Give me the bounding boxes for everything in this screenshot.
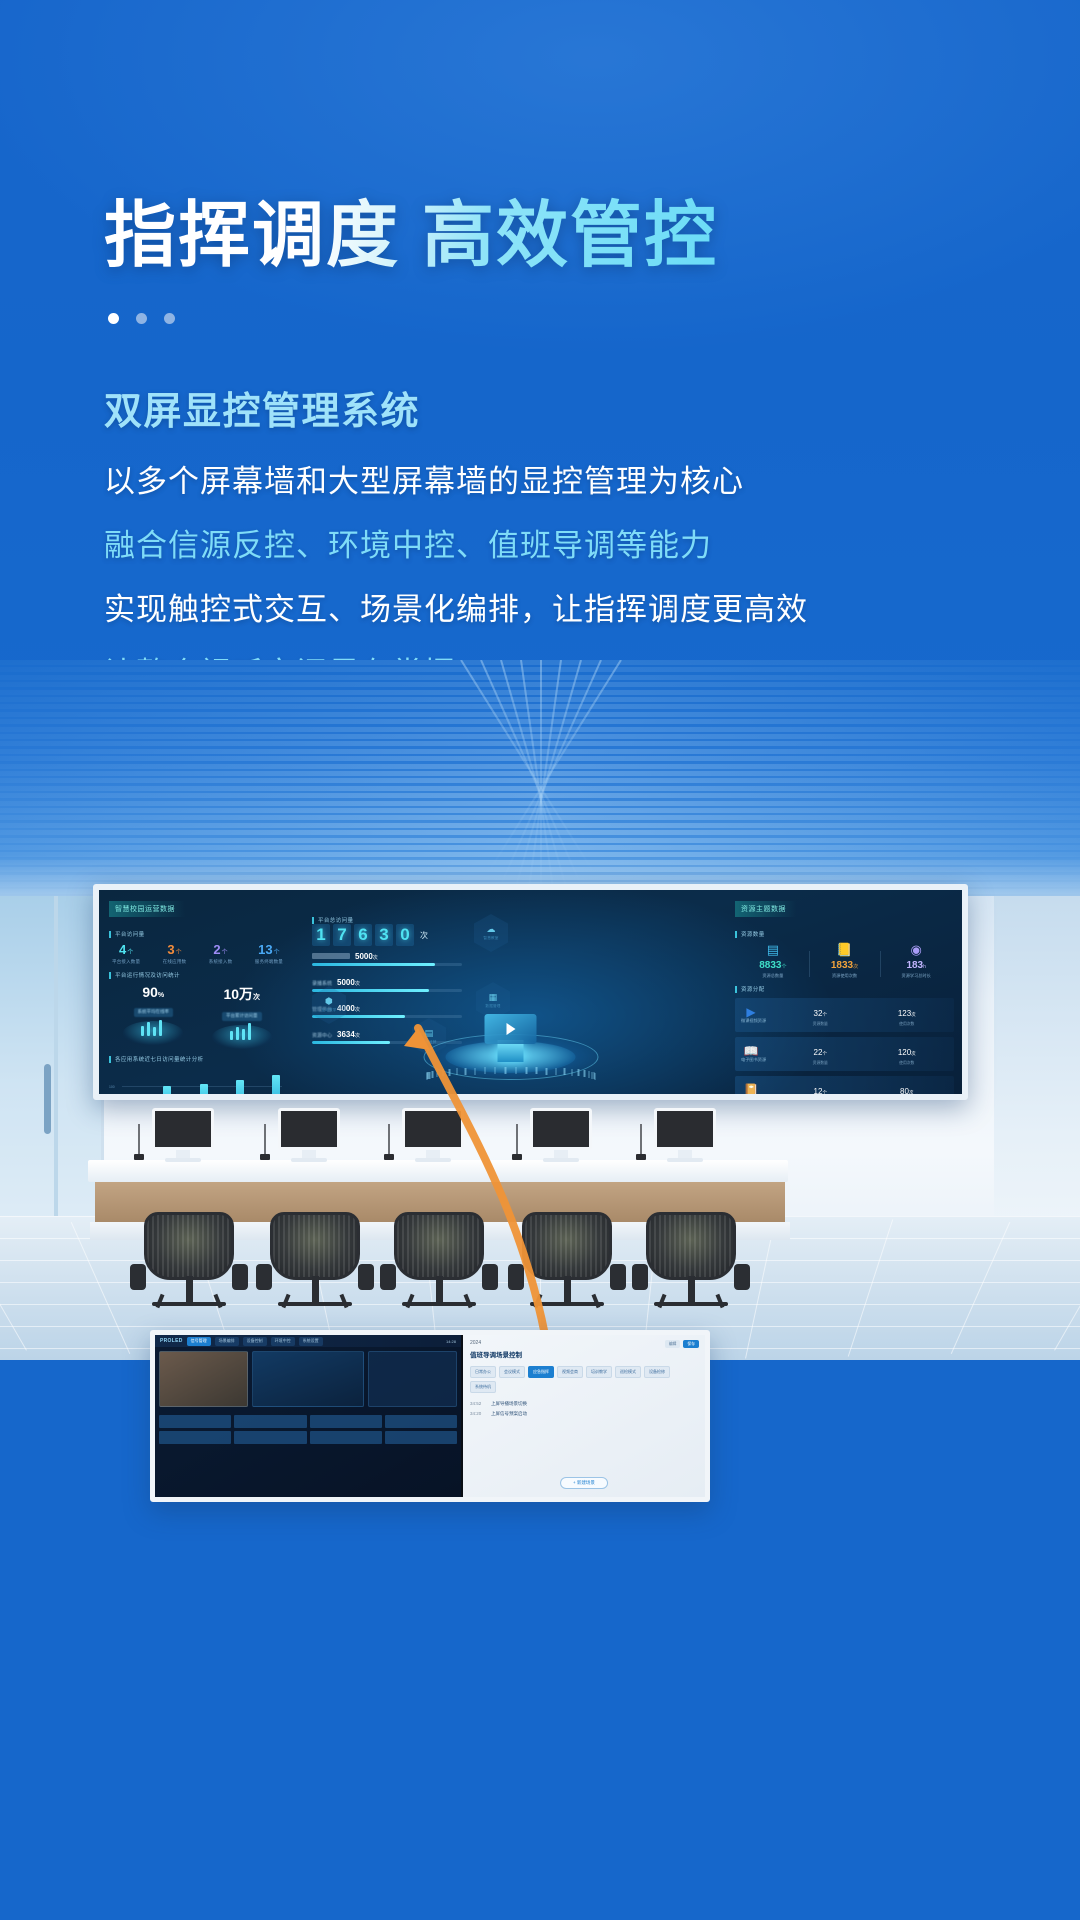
chair-base [152, 1302, 226, 1306]
monitor-foot [291, 1158, 327, 1162]
chair-base [402, 1302, 476, 1306]
center-3d-podium [423, 1026, 598, 1090]
right-screen-actions[interactable]: 编辑 保存 [665, 1340, 699, 1348]
schedule-time: 34:20 [470, 1411, 486, 1416]
schedule-list: 34:52 上屏导播场景切换 34:20 上屏信号预案启动 [463, 1397, 705, 1425]
gauge-value: 90% [114, 984, 192, 1000]
chair-base [530, 1302, 604, 1306]
summary-cell: ▤ 8833个 资源总数量 [737, 943, 809, 979]
office-chair [508, 1212, 626, 1324]
office-chair [130, 1212, 248, 1324]
chart-bar [272, 1075, 280, 1100]
mini-tile[interactable] [310, 1415, 382, 1428]
tab-environment[interactable]: 环境中控 [271, 1337, 295, 1346]
monitor-foot [415, 1158, 451, 1162]
body-line-3: 实现触控式交互、场景化编排，让指挥调度更高效 [104, 578, 1004, 642]
left-screen-cards [155, 1347, 461, 1411]
left-screen-mini-tiles[interactable] [155, 1411, 461, 1448]
vw-right-title: 资源主题数据 [735, 901, 796, 917]
monitor-stand [426, 1150, 440, 1158]
kpi-value: 2个 [209, 943, 233, 956]
podium-tick [564, 1068, 566, 1075]
video-wall[interactable]: 智慧校园运营数据 平台访问量 4个 平台接入数量 3个 在线应用数 2个 系统接… [93, 884, 968, 1100]
left-screen-toolbar[interactable]: PROLED 信号管理 场景编排 设备控制 环境中控 系统设置 14:28 [155, 1335, 461, 1347]
mini-tile[interactable] [159, 1415, 231, 1428]
chair-armrest [358, 1264, 374, 1290]
summary-label: 资源学习总时长 [880, 973, 952, 979]
summary-label: 资源使用次数 [809, 973, 881, 979]
kpi-label: 系统接入数 [209, 959, 233, 965]
gauge-disc [212, 1025, 272, 1049]
scene-chip[interactable]: 会议模式 [499, 1366, 525, 1378]
podium-tick [494, 1067, 496, 1074]
kpi-value: 13个 [255, 943, 283, 956]
clock-icon: ◉ [880, 943, 952, 956]
gauge-item: 10万次 平台累计访问量 [203, 984, 281, 1049]
layers-icon: ▤ [737, 943, 809, 956]
mini-tile[interactable] [234, 1431, 306, 1444]
edit-button[interactable]: 编辑 [665, 1340, 681, 1348]
desk-microphone [516, 1124, 518, 1154]
vw-left-section-3: 各应用系统近七日访问量统计分析 [109, 1055, 286, 1063]
camera-preview-card[interactable] [159, 1351, 248, 1407]
summary-value: 183h [880, 960, 952, 971]
office-chair [632, 1212, 750, 1324]
year-label: 2024 [470, 1340, 698, 1346]
scene-chip[interactable]: 应急指挥 [528, 1366, 554, 1378]
monitor-stand [554, 1150, 568, 1158]
pagination-dots[interactable] [108, 313, 175, 324]
mini-tile[interactable] [385, 1431, 457, 1444]
kpi-item: 2个 系统接入数 [209, 943, 233, 965]
summary-label: 资源总数量 [737, 973, 809, 979]
podium-tick [449, 1069, 451, 1076]
vw-left-section-1: 平台访问量 [109, 930, 286, 938]
vw-right-section-2: 资源分配 [735, 985, 954, 993]
body-line-2: 融合信源反控、环境中控、值班导调等能力 [104, 514, 1004, 578]
podium-tick [593, 1072, 595, 1079]
gauge-value: 10万次 [203, 984, 281, 1004]
desk-surface [88, 1160, 788, 1182]
media-card-icon [485, 1014, 537, 1044]
scene-chip[interactable]: 视频会商 [557, 1366, 583, 1378]
gauge-disc [123, 1021, 183, 1045]
podium-tick [426, 1073, 428, 1080]
workstation [278, 1108, 340, 1162]
clock: 14:28 [446, 1339, 456, 1344]
chair-back [144, 1212, 234, 1280]
counter-digit: 6 [354, 924, 372, 946]
vw-left-panel: 智慧校园运营数据 平台访问量 4个 平台接入数量 3个 在线应用数 2个 系统接… [99, 890, 294, 1094]
mini-tile[interactable] [385, 1415, 457, 1428]
chair-back [646, 1212, 736, 1280]
office-chair [380, 1212, 498, 1324]
monitor-foot [165, 1158, 201, 1162]
monitor-stand [678, 1150, 692, 1158]
chair-armrest [734, 1264, 750, 1290]
pagination-dot-1[interactable] [108, 313, 119, 324]
chair-armrest [508, 1264, 524, 1290]
kpi-item: 4个 平台接入数量 [112, 943, 140, 965]
desk-microphone [640, 1124, 642, 1154]
podium-tick [436, 1070, 438, 1077]
vw-left-title: 智慧校园运营数据 [109, 901, 185, 917]
body-line-1: 以多个屏幕墙和大型屏幕墙的显控管理为核心 [104, 450, 1004, 514]
scene-chip-list[interactable]: 日常办公会议模式应急指挥视频会商培训教学巡检模式设备检修系统待机 [463, 1362, 705, 1397]
resource-count: 32个资源数量 [779, 1003, 862, 1027]
kpi-item: 3个 在线应用数 [163, 943, 187, 965]
scene-diagram-card[interactable] [252, 1351, 364, 1407]
scene-chip[interactable]: 日常办公 [470, 1366, 496, 1378]
subheading: 双屏显控管理系统 [104, 380, 420, 435]
scene-chip[interactable]: 培训教学 [586, 1366, 612, 1378]
touch-panel-right-screen[interactable]: 编辑 保存 2024 值班导调场景控制 日常办公会议模式应急指挥视频会商培训教学… [463, 1335, 705, 1497]
monitor-stand [302, 1150, 316, 1158]
podium-tick [432, 1071, 434, 1078]
podium-tick [465, 1068, 467, 1075]
chart-bar [200, 1084, 208, 1100]
podium-tick [505, 1067, 507, 1074]
schedule-item[interactable]: 34:52 上屏导播场景切换 [470, 1401, 698, 1407]
monitor [278, 1108, 340, 1150]
desk-microphone [138, 1124, 140, 1154]
resource-row: 📖 电子图书资源 22个资源数量 120次使用次数 [735, 1037, 954, 1071]
podium-tick [571, 1069, 573, 1076]
vw-left-section-2: 平台运行情况及访问统计 [109, 971, 286, 979]
play-icon [506, 1023, 515, 1035]
scene-chip[interactable]: 巡检模式 [615, 1366, 641, 1378]
chair-armrest [256, 1264, 272, 1290]
tab-signal-management[interactable]: 信号管理 [187, 1337, 211, 1346]
podium-tick [526, 1067, 528, 1074]
touch-panel-left-screen[interactable]: PROLED 信号管理 场景编排 设备控制 环境中控 系统设置 14:28 [155, 1335, 463, 1497]
schedule-time: 34:52 [470, 1401, 486, 1406]
summary-cell: ◉ 183h 资源学习总时长 [880, 943, 952, 979]
workstation [152, 1108, 214, 1162]
pagination-dot-3[interactable] [164, 313, 175, 324]
chart-bar [163, 1086, 171, 1100]
counter-digit: 0 [396, 924, 414, 946]
kpi-item: 13个 服务终端数量 [255, 943, 283, 965]
video-icon: ▶ [741, 1006, 761, 1018]
kpi-value: 4个 [112, 943, 140, 956]
resource-row: 📔 课件文档资源 12个资源数量 80次使用次数 [735, 1076, 954, 1100]
pagination-dot-2[interactable] [136, 313, 147, 324]
chair-back [394, 1212, 484, 1280]
counter-digit: 3 [375, 924, 393, 946]
podium-tick [584, 1070, 586, 1077]
resource-count: 12个资源数量 [779, 1081, 862, 1100]
archive-icon: 📔 [741, 1084, 761, 1096]
vw-right-panel: 资源主题数据 资源数量 ▤ 8833个 资源总数量 📒 1833次 资源使用次数… [727, 890, 962, 1094]
ceiling [0, 660, 1080, 910]
tab-device-control[interactable]: 设备控制 [243, 1337, 267, 1346]
workstation [402, 1108, 464, 1162]
vw-center-panel: 平台总访问量 1 7 6 3 0 次 5000次 录播系统5000次 [294, 890, 727, 1094]
resource-count: 22个资源数量 [779, 1042, 862, 1066]
chair-armrest [632, 1264, 648, 1290]
gauge-row: 90% 系统平均在线率 10万次 平台累计访问量 [109, 984, 286, 1049]
counter-digit: 1 [312, 924, 330, 946]
counter-unit: 次 [420, 930, 428, 941]
workstation-row [0, 1108, 1080, 1328]
page-title: 指挥调度 高效管控 [104, 196, 718, 277]
chair-back [522, 1212, 612, 1280]
schedule-item[interactable]: 34:20 上屏信号预案启动 [470, 1411, 698, 1417]
monitor-stand [176, 1150, 190, 1158]
scene-title: 值班导调场景控制 [470, 1349, 698, 1359]
resource-uses: 120次使用次数 [866, 1042, 949, 1066]
podium-tick [484, 1067, 486, 1074]
book-open-icon: 📖 [741, 1045, 761, 1057]
monitor [654, 1108, 716, 1150]
scene-chip[interactable]: 系统待机 [470, 1381, 496, 1393]
gauge-label: 系统平均在线率 [134, 1008, 174, 1017]
schedule-desc: 上屏信号预案启动 [491, 1411, 527, 1417]
monitor [530, 1108, 592, 1150]
chair-base [654, 1302, 728, 1306]
mini-tile[interactable] [310, 1431, 382, 1444]
resource-uses: 80次使用次数 [866, 1081, 949, 1100]
kpi-label: 服务终端数量 [255, 959, 283, 965]
kpi-label: 在线应用数 [163, 959, 187, 965]
vw-center-section: 平台总访问量 [312, 916, 353, 924]
chair-back [270, 1212, 360, 1280]
chart-ytick: 100 [109, 1085, 115, 1089]
scene-chip[interactable]: 设备检修 [644, 1366, 670, 1378]
kpi-value: 3个 [163, 943, 187, 956]
podium-tick [546, 1068, 548, 1075]
mini-tile[interactable] [234, 1415, 306, 1428]
chair-base [278, 1302, 352, 1306]
progress-row: 5000次 [312, 952, 462, 966]
schedule-desc: 上屏导播场景切换 [491, 1401, 527, 1407]
chair-armrest [482, 1264, 498, 1290]
monitor [402, 1108, 464, 1150]
chart-bar [236, 1080, 244, 1100]
app-logo: PROLED [160, 1338, 183, 1344]
book-icon: 📒 [809, 943, 881, 956]
resource-uses: 123次使用次数 [866, 1003, 949, 1027]
kpi-label: 平台接入数量 [112, 959, 140, 965]
workstation [654, 1108, 716, 1162]
office-chair [256, 1212, 374, 1324]
podium-tick [555, 1068, 557, 1075]
chair-armrest [130, 1264, 146, 1290]
summary-value: 1833次 [809, 960, 881, 971]
tab-settings[interactable]: 系统设置 [299, 1337, 323, 1346]
resource-name: 课件文档资源 [741, 1096, 775, 1100]
resource-name: 电子图书资源 [741, 1057, 775, 1063]
podium-tick [456, 1068, 458, 1075]
summary-cell: 📒 1833次 资源使用次数 [809, 943, 881, 979]
chart-bars [127, 1073, 280, 1100]
monitor-foot [667, 1158, 703, 1162]
hex-node-icon: ⬢互动教学 [312, 986, 346, 1024]
weekly-visits-chart: 100 80 60 周一周二周三周四周五 [109, 1069, 286, 1100]
desk-microphone [388, 1124, 390, 1154]
chart-bar [127, 1094, 135, 1100]
vw-right-section-1: 资源数量 [735, 930, 954, 938]
new-scene-button[interactable]: + 新建场景 [560, 1477, 608, 1489]
kpi-row: 4个 平台接入数量 3个 在线应用数 2个 系统接入数 13个 服务终端数量 [109, 943, 286, 965]
podium-tick [591, 1072, 593, 1079]
hex-node-icon: ☁智慧教室 [474, 914, 508, 952]
monitor [152, 1108, 214, 1150]
total-visits-counter: 1 7 6 3 0 次 [312, 924, 428, 946]
podium-tick [442, 1069, 444, 1076]
dual-screen-touch-panel[interactable]: PROLED 信号管理 场景编排 设备控制 环境中控 系统设置 14:28 [150, 1330, 710, 1502]
resource-name: 微课视频资源 [741, 1018, 775, 1024]
chair-armrest [380, 1264, 396, 1290]
gauge-item: 90% 系统平均在线率 [114, 984, 192, 1049]
podium-tick [578, 1069, 580, 1076]
gauge-label: 平台累计访问量 [222, 1012, 262, 1021]
summary-value: 8833个 [737, 960, 809, 971]
resource-row: ▶ 微课视频资源 32个资源数量 123次使用次数 [735, 998, 954, 1032]
podium-tick [474, 1068, 476, 1075]
poster-root: 指挥调度 高效管控 双屏显控管理系统 以多个屏幕墙和大型屏幕墙的显控管理为核心 … [0, 0, 1080, 1920]
signal-source-card[interactable] [368, 1351, 457, 1407]
tab-scene-layout[interactable]: 场景编排 [215, 1337, 239, 1346]
mini-tile[interactable] [159, 1431, 231, 1444]
chart-ytick: 80 [109, 1099, 113, 1100]
podium-tick [588, 1071, 590, 1078]
resource-summary: ▤ 8833个 资源总数量 📒 1833次 资源使用次数 ◉ 183h 资源学习… [735, 943, 954, 979]
podium-tick [429, 1072, 431, 1079]
chair-armrest [232, 1264, 248, 1290]
podium-tick [536, 1067, 538, 1074]
save-button[interactable]: 保存 [683, 1340, 699, 1348]
desk-microphone [264, 1124, 266, 1154]
podium-tick [515, 1067, 517, 1074]
monitor-foot [543, 1158, 579, 1162]
chair-armrest [610, 1264, 626, 1290]
counter-digit: 7 [333, 924, 351, 946]
workstation [530, 1108, 592, 1162]
